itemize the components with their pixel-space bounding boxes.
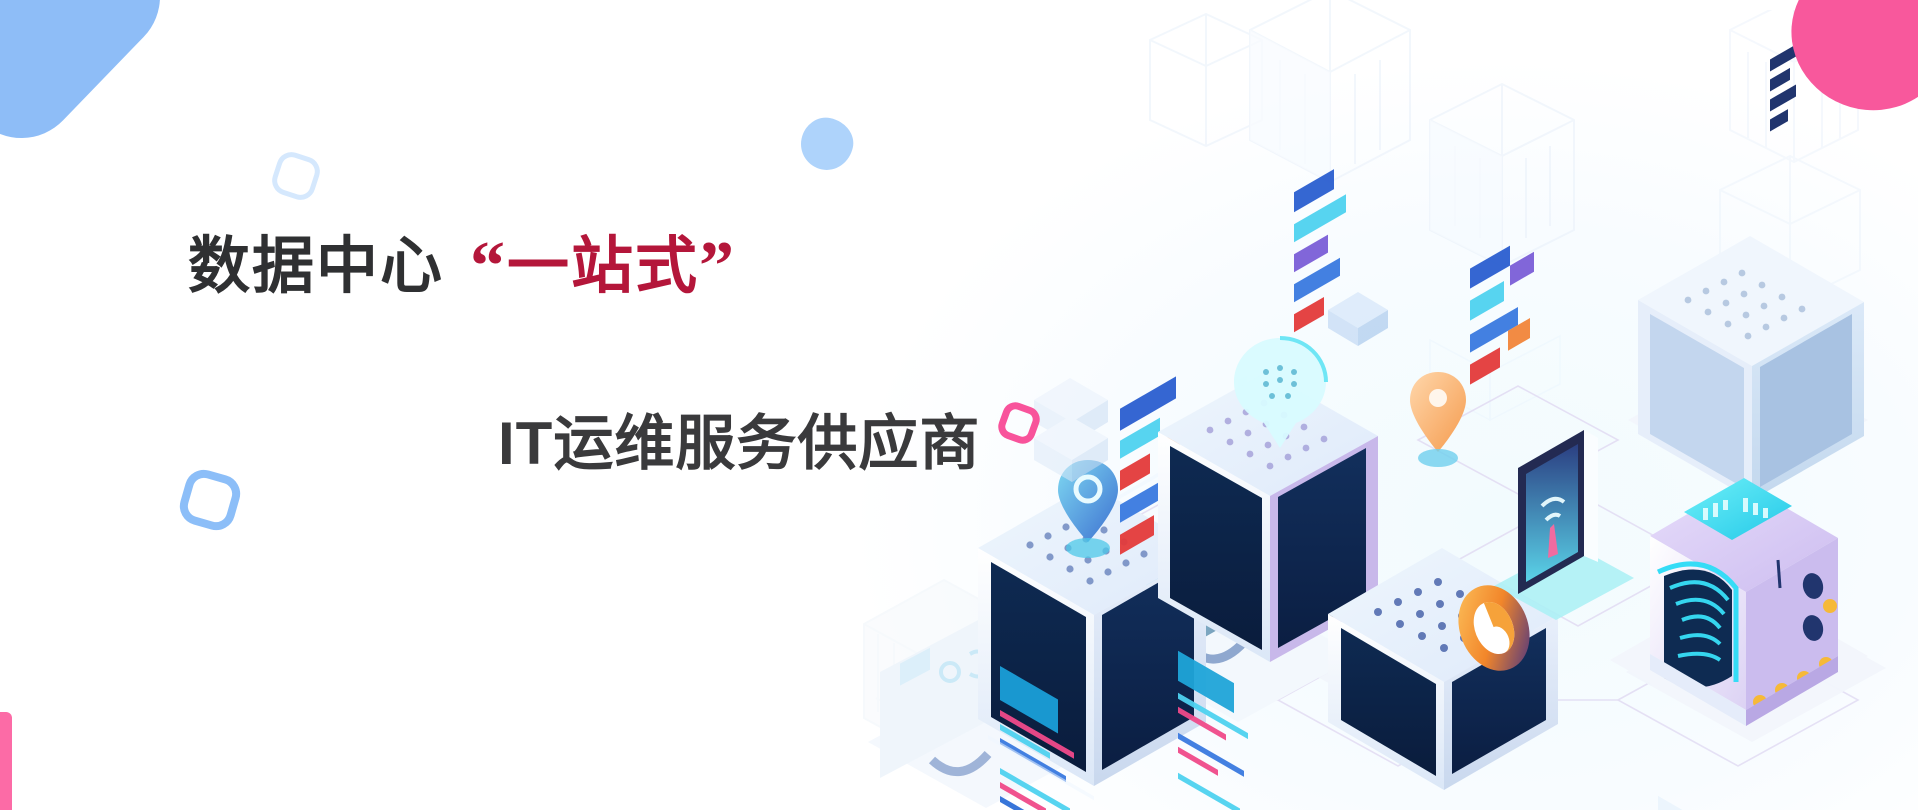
dot-blue-filled-icon	[796, 113, 858, 175]
coin-ring-orange	[1446, 574, 1542, 681]
ring-blue-large-icon	[175, 465, 244, 534]
ghost-cityscape	[1130, 0, 1650, 430]
hero-banner: 数据中心“一站式” IT运维服务供应商	[0, 0, 1918, 810]
ring-blue-small-icon	[268, 148, 323, 203]
quote-open: “	[470, 228, 507, 305]
headline-block: 数据中心“一站式” IT运维服务供应商	[188, 232, 1048, 474]
headline-line-1: 数据中心“一站式”	[188, 232, 1048, 302]
headline-line-2: IT运维服务供应商	[498, 414, 1048, 474]
tablet-device	[1494, 430, 1634, 620]
headline-prefix: 数据中心	[188, 232, 444, 301]
bar-pink-icon	[0, 712, 12, 810]
location-pin-blue	[1058, 460, 1118, 558]
quote-close: ”	[699, 228, 736, 305]
ghost-cube	[856, 572, 1032, 768]
headline-accent: 一站式	[507, 232, 699, 301]
rounded-square-blue-corner-icon	[0, 0, 184, 162]
